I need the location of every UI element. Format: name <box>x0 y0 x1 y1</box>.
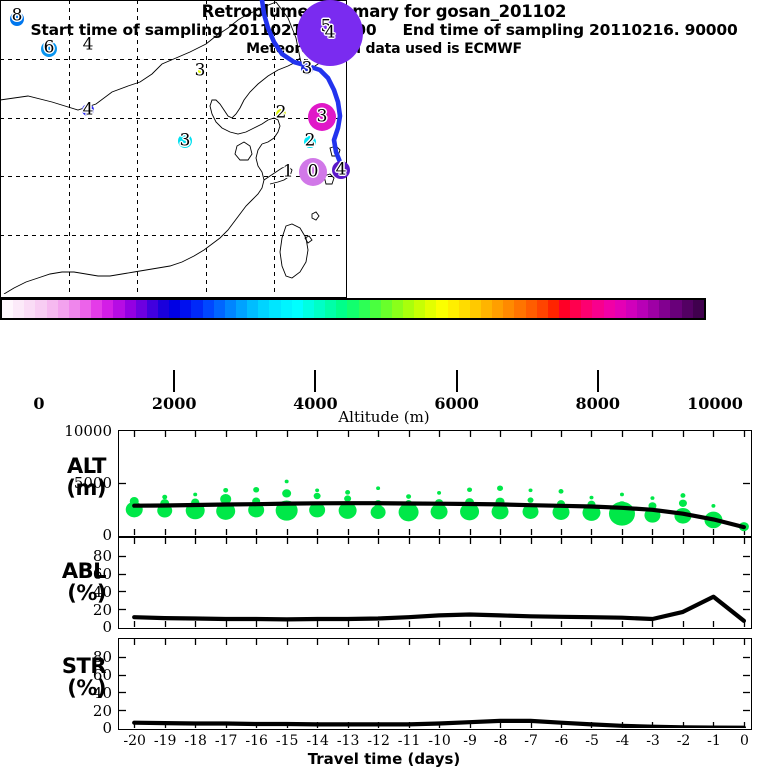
colorbar-swatch <box>314 300 325 318</box>
colorbar-swatch <box>570 300 581 318</box>
plume-day-label: 6 <box>44 40 55 57</box>
colorbar-swatch <box>637 300 648 318</box>
y-axis-tick: 0 <box>40 719 112 737</box>
x-axis-tick: -5 <box>585 733 599 749</box>
colorbar-swatch <box>581 300 592 318</box>
x-axis-tick: -3 <box>646 733 660 749</box>
colorbar-swatch <box>269 300 280 318</box>
colorbar-divider <box>456 370 458 392</box>
plume-day-label: 3 <box>180 133 191 150</box>
colorbar-swatch <box>448 300 459 318</box>
colorbar-swatch <box>604 300 615 318</box>
colorbar-swatch <box>292 300 303 318</box>
y-axis-tick: 0 <box>40 618 112 636</box>
colorbar-swatch <box>2 300 13 318</box>
colorbar-swatch <box>47 300 58 318</box>
x-axis-tick: -8 <box>494 733 508 749</box>
colorbar-swatch <box>158 300 169 318</box>
y-axis-tick: 40 <box>40 583 112 601</box>
colorbar-swatch <box>347 300 358 318</box>
x-axis-tick: -16 <box>245 733 268 749</box>
colorbar-swatch <box>559 300 570 318</box>
colorbar-swatch <box>225 300 236 318</box>
colorbar-swatch <box>147 300 158 318</box>
y-axis-tick: 40 <box>40 684 112 702</box>
plume-day-label: 4 <box>83 102 94 119</box>
y-axis-tick: 60 <box>40 565 112 583</box>
colorbar-swatch <box>247 300 258 318</box>
colorbar-swatch <box>470 300 481 318</box>
colorbar-swatch <box>403 300 414 318</box>
colorbar-swatch <box>503 300 514 318</box>
colorbar-swatch <box>359 300 370 318</box>
x-axis-tick: -17 <box>215 733 238 749</box>
colorbar-swatch <box>24 300 35 318</box>
colorbar-swatch <box>526 300 537 318</box>
colorbar-swatch <box>80 300 91 318</box>
colorbar-swatch <box>425 300 436 318</box>
abl-plot-graphics <box>119 538 750 627</box>
colorbar-swatch <box>392 300 403 318</box>
x-axis-tick: -4 <box>616 733 630 749</box>
colorbar-swatch <box>102 300 113 318</box>
plume-day-label: 1 <box>283 164 294 181</box>
x-axis-tick: -2 <box>677 733 691 749</box>
plume-day-label: 4 <box>83 37 94 54</box>
retroplume-map[interactable]: 864343543232014 <box>0 0 347 298</box>
y-axis-tick: 60 <box>40 666 112 684</box>
colorbar-swatch <box>481 300 492 318</box>
colorbar-swatch <box>459 300 470 318</box>
plume-day-label: 2 <box>276 105 287 122</box>
end-time-label: End time of sampling 20110216. 90000 <box>402 21 737 40</box>
x-axis-tick: -11 <box>398 733 421 749</box>
alt-plot-graphics <box>119 431 750 535</box>
colorbar-swatch <box>682 300 693 318</box>
x-axis-tick: -7 <box>524 733 538 749</box>
x-axis-tick: -6 <box>555 733 569 749</box>
colorbar-swatch <box>180 300 191 318</box>
plume-day-label: 3 <box>195 63 206 80</box>
colorbar-swatch <box>113 300 124 318</box>
y-axis-tick: 20 <box>40 601 112 619</box>
x-axis-tick: -15 <box>276 733 299 749</box>
y-axis-tick: 80 <box>40 648 112 666</box>
colorbar-swatch <box>169 300 180 318</box>
str-plot-panel[interactable] <box>118 638 752 730</box>
plume-day-label: 2 <box>305 133 316 150</box>
colorbar-swatch <box>548 300 559 318</box>
x-axis-tick: 0 <box>740 733 749 749</box>
plume-day-label: 4 <box>325 25 336 42</box>
abl-plot-panel[interactable] <box>118 537 752 629</box>
colorbar-swatch <box>336 300 347 318</box>
colorbar-swatch <box>325 300 336 318</box>
x-axis-title: Travel time (days) <box>0 750 768 768</box>
colorbar-swatch <box>436 300 447 318</box>
colorbar-swatch <box>203 300 214 318</box>
altitude-colorbar[interactable] <box>0 298 706 320</box>
x-axis-tick: -9 <box>463 733 477 749</box>
x-axis-tick: -20 <box>123 733 146 749</box>
colorbar-swatch <box>58 300 69 318</box>
colorbar-swatch <box>670 300 681 318</box>
y-axis-tick: 0 <box>40 526 112 544</box>
colorbar-swatch <box>13 300 24 318</box>
alt-plot-panel[interactable] <box>118 430 752 537</box>
colorbar-swatch <box>659 300 670 318</box>
colorbar-swatch <box>191 300 202 318</box>
plume-day-label: 3 <box>302 61 313 78</box>
colorbar-swatch <box>281 300 292 318</box>
colorbar-swatch <box>592 300 603 318</box>
colorbar-swatch <box>414 300 425 318</box>
str-plot-graphics <box>119 639 750 728</box>
colorbar-swatch <box>214 300 225 318</box>
colorbar-swatch <box>381 300 392 318</box>
x-axis-tick: -13 <box>337 733 360 749</box>
x-axis-tick: -19 <box>154 733 177 749</box>
y-axis-tick: 20 <box>40 702 112 720</box>
plume-day-label: 3 <box>317 109 328 126</box>
colorbar-divider <box>173 370 175 392</box>
colorbar-swatch <box>236 300 247 318</box>
x-axis-tick: -14 <box>306 733 329 749</box>
colorbar-swatch <box>91 300 102 318</box>
x-axis-tick: -1 <box>707 733 721 749</box>
colorbar-swatch <box>69 300 80 318</box>
y-axis-tick: 5000 <box>40 474 112 492</box>
colorbar-swatch <box>514 300 525 318</box>
x-axis-tick: -12 <box>367 733 390 749</box>
y-axis-tick: 10000 <box>40 422 112 440</box>
colorbar-swatch <box>303 300 314 318</box>
y-axis-tick: 80 <box>40 547 112 565</box>
colorbar-swatch <box>35 300 46 318</box>
colorbar-swatch <box>626 300 637 318</box>
colorbar-swatch <box>370 300 381 318</box>
colorbar-swatch <box>693 300 704 318</box>
colorbar-swatch <box>648 300 659 318</box>
colorbar-divider <box>314 370 316 392</box>
x-axis-tick: -10 <box>428 733 451 749</box>
plume-day-label: 4 <box>336 162 347 179</box>
plume-day-label: 0 <box>308 164 319 181</box>
colorbar-divider <box>597 370 599 392</box>
colorbar-swatch <box>258 300 269 318</box>
colorbar-swatch <box>136 300 147 318</box>
colorbar-title: Altitude (m) <box>0 408 768 426</box>
plume-day-label: 8 <box>12 8 23 25</box>
x-axis-tick: -18 <box>184 733 207 749</box>
colorbar-swatch <box>125 300 136 318</box>
colorbar-swatch <box>615 300 626 318</box>
colorbar-swatch <box>537 300 548 318</box>
colorbar-swatch <box>492 300 503 318</box>
